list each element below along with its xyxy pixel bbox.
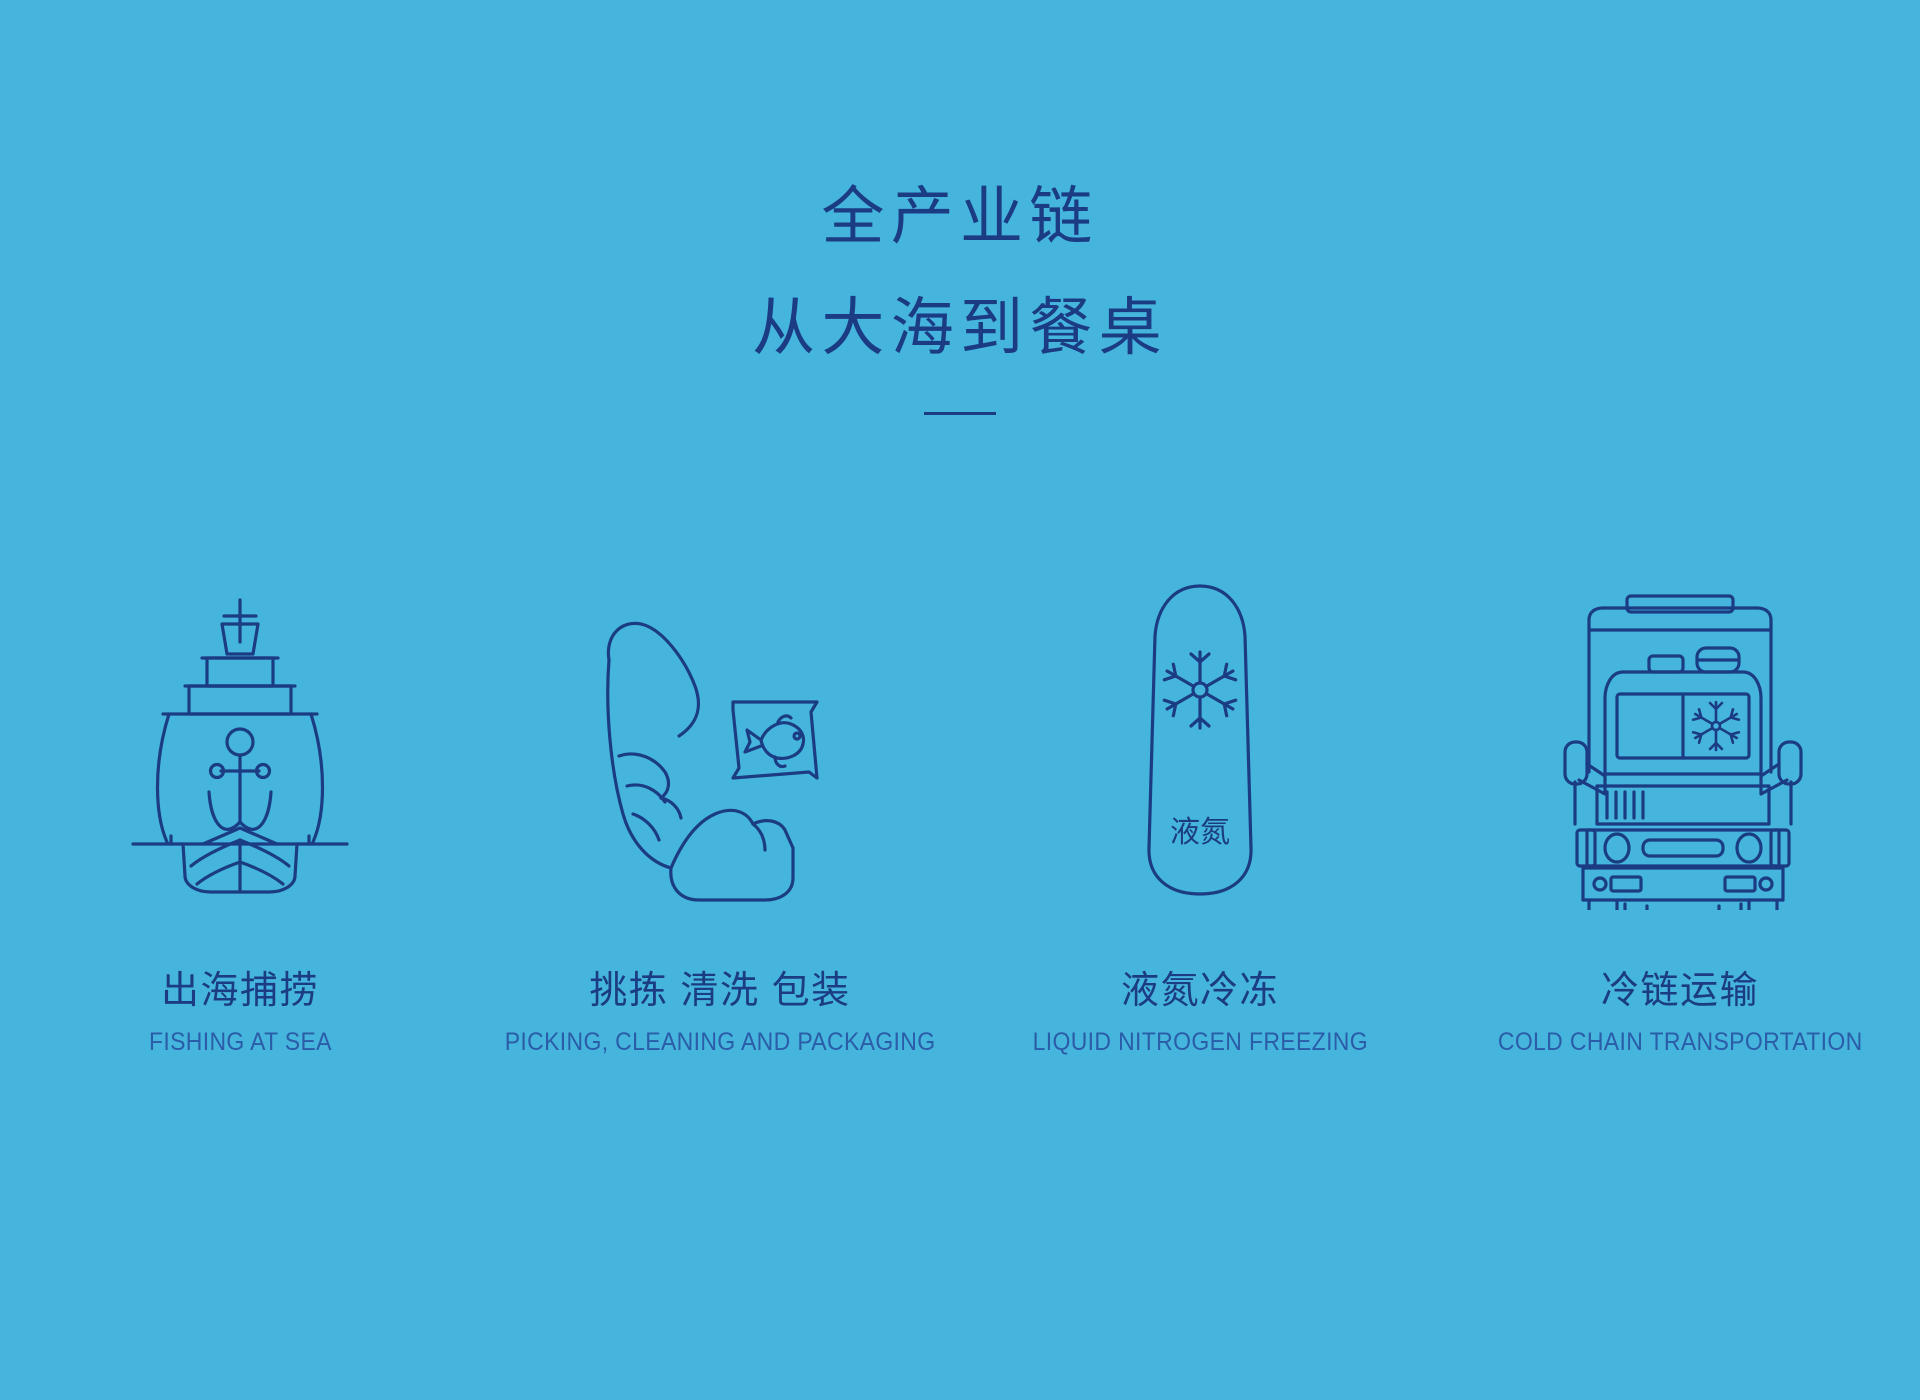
- infographic-page: 全产业链 从大海到餐桌: [0, 0, 1920, 1400]
- liquid-nitrogen-tank-snowflake-icon: 液氮: [1135, 580, 1265, 910]
- step-icon-wrap: [575, 520, 865, 910]
- page-header: 全产业链 从大海到餐桌: [0, 0, 1920, 415]
- step-label-cn: 液氮冷冻: [1018, 970, 1383, 1014]
- step-icon-wrap: [125, 520, 355, 910]
- step-icon-wrap: [1555, 520, 1805, 910]
- step-label-en: FISHING AT SEA: [149, 1028, 332, 1057]
- step-label-en: COLD CHAIN TRANSPORTATION: [1498, 1028, 1863, 1057]
- fishing-boat-anchor-icon: [125, 590, 355, 910]
- step-label-en: LIQUID NITROGEN FREEZING: [1032, 1028, 1367, 1057]
- step-icon-wrap: 液氮: [1135, 520, 1265, 910]
- step-labels: 冷链运输 COLD CHAIN TRANSPORTATION: [1482, 970, 1878, 1057]
- step-label-cn: 冷链运输: [1482, 970, 1878, 1014]
- process-steps: 出海捕捞 FISHING AT SEA: [0, 520, 1920, 1057]
- step-label-en: PICKING, CLEANING AND PACKAGING: [505, 1028, 936, 1057]
- step-fishing-at-sea: 出海捕捞 FISHING AT SEA: [0, 520, 480, 1057]
- step-labels: 出海捕捞 FISHING AT SEA: [141, 970, 340, 1057]
- tank-label-text: 液氮: [1170, 816, 1230, 849]
- title-divider: [924, 412, 996, 415]
- step-cold-chain-transportation: 冷链运输 COLD CHAIN TRANSPORTATION: [1440, 520, 1920, 1057]
- step-liquid-nitrogen-freezing: 液氮 液氮冷冻 LIQUID NITROGEN FREEZING: [960, 520, 1440, 1057]
- title-divider-wrap: [0, 412, 1920, 415]
- step-label-cn: 出海捕捞: [141, 970, 340, 1014]
- step-label-cn: 挑拣 清洗 包装: [486, 970, 954, 1014]
- page-title-primary: 全产业链: [0, 186, 1920, 249]
- step-picking-cleaning-packaging: 挑拣 清洗 包装 PICKING, CLEANING AND PACKAGING: [480, 520, 960, 1057]
- page-title-secondary: 从大海到餐桌: [0, 297, 1920, 360]
- step-labels: 挑拣 清洗 包装 PICKING, CLEANING AND PACKAGING: [486, 970, 954, 1057]
- step-labels: 液氮冷冻 LIQUID NITROGEN FREEZING: [1018, 970, 1383, 1057]
- hands-fish-package-icon: [575, 600, 865, 910]
- refrigerated-truck-snowflake-icon: [1555, 590, 1805, 910]
